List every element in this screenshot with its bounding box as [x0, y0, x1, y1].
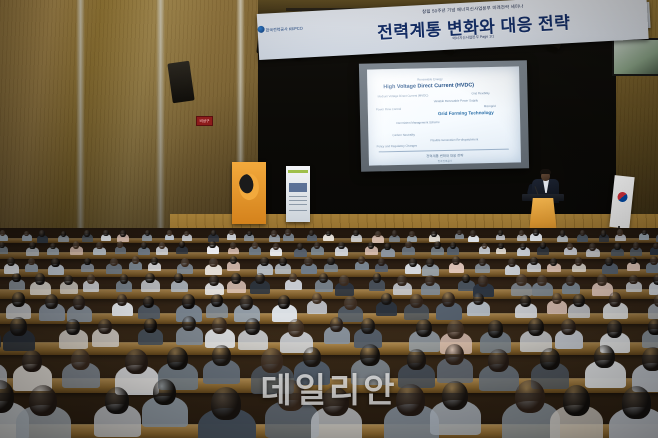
audience-member-head [482, 243, 487, 249]
audience-member-head [303, 347, 321, 368]
audience-member-head [368, 242, 374, 249]
conference-photo: 비상구 "50년의 역사, 50년의 미래" 한국전력공사 KEPCO 창립 5… [0, 0, 658, 438]
audience-member-head [96, 242, 102, 249]
audience-member-head [29, 385, 57, 416]
exit-sign-label: 비상구 [197, 117, 212, 125]
audience-member-head [405, 241, 412, 248]
wood-panel-wall-left [0, 0, 262, 232]
audience-member-head [601, 230, 606, 236]
audience-member-head [182, 294, 195, 309]
audience-member-head [304, 257, 312, 266]
x-banner-line [289, 210, 307, 211]
audience-member-head [110, 258, 118, 267]
audience-member-head [560, 230, 566, 236]
audience-member-head [442, 292, 455, 307]
audience-member-head [515, 380, 545, 414]
audience-member-head [45, 294, 58, 309]
audience-member-head [462, 274, 470, 283]
audience-member-head [7, 257, 15, 266]
screen-glare [367, 66, 521, 165]
audience-member-head [326, 231, 331, 237]
audience-member-head [105, 387, 129, 414]
audience-member-head [247, 231, 252, 237]
audience-member-head [396, 384, 424, 416]
audience-member-head [653, 243, 658, 249]
kepco-logo-icon [237, 172, 262, 202]
audience-member-head [630, 257, 637, 265]
audience-member-head [132, 256, 139, 264]
x-banner-header [288, 170, 308, 173]
audience-member-head [0, 230, 5, 236]
audience-member-head [540, 242, 546, 249]
audience-member-head [10, 317, 26, 335]
audience-member-head [373, 273, 381, 282]
audience-member-head [520, 295, 531, 308]
audience-member-head [211, 387, 241, 420]
audience-member-head [573, 294, 584, 307]
audience-member-head [245, 318, 261, 336]
audience-member-head [473, 293, 484, 306]
audience-member-head [64, 275, 73, 285]
audience-member-head [12, 273, 20, 282]
audience-member-head [87, 274, 95, 283]
audience-member-head [648, 319, 658, 334]
audience-member-head [212, 317, 227, 334]
audience-member-head [151, 257, 158, 265]
audience-member-head [431, 231, 437, 237]
audience-member-head [230, 256, 237, 264]
audience-member-head [125, 349, 147, 374]
audience-member-head [327, 257, 334, 265]
audience-member-head [498, 243, 504, 249]
audience-member-head [260, 257, 269, 267]
audience-member-head [457, 230, 462, 235]
audience-member-head [409, 231, 414, 237]
x-banner-line [289, 196, 307, 197]
audience-member-head [498, 230, 503, 235]
audience-member-head [314, 242, 320, 249]
audience-member-head [552, 293, 562, 305]
audience-member-head [516, 274, 527, 286]
audience-member-head [145, 273, 154, 284]
audience-member-head [261, 348, 283, 373]
audience-member-head [39, 230, 45, 237]
audience-member-body [0, 330, 1, 348]
audience-member-head [642, 230, 647, 236]
audience-member-head [312, 293, 322, 305]
audience-member-head [153, 379, 176, 405]
audience-member-head [447, 320, 464, 339]
event-x-banner [286, 166, 310, 222]
audience-member-head [409, 258, 417, 267]
audience-member-head [361, 318, 375, 334]
audience-member-head [392, 230, 398, 236]
audience-member-head [360, 344, 380, 366]
audience-member-head [167, 347, 188, 370]
audience-member-head [51, 258, 59, 267]
audience-member-head [209, 258, 217, 267]
audience-member-head [22, 350, 42, 372]
audience-member-head [98, 319, 112, 334]
audience-member-head [159, 242, 165, 249]
audience-member-head [73, 295, 86, 309]
audience-member-head [174, 273, 183, 283]
audience-member-head [416, 319, 432, 337]
wall-shading [0, 0, 262, 232]
audience-member-head [575, 257, 582, 265]
audience-member-head [322, 387, 348, 416]
x-banner-line [289, 200, 307, 201]
audience-member-head [289, 273, 297, 282]
audience-member-head [181, 258, 189, 267]
audience-member-head [103, 230, 108, 236]
audience-member-head [642, 347, 658, 372]
audience-member-head [279, 257, 287, 267]
audience-member-head [589, 243, 596, 251]
audience-member-head [278, 295, 291, 309]
audience-member-head [478, 275, 489, 287]
wall-monitor [612, 38, 658, 76]
audience-member-head [231, 273, 241, 284]
audience-member-head [375, 231, 381, 237]
audience-member-head [252, 242, 258, 249]
x-banner-title-block [289, 183, 307, 192]
audience-member-head [425, 275, 435, 286]
audience-member-head [434, 241, 441, 248]
audience-member-head [288, 319, 305, 338]
audience-member-head [358, 256, 365, 264]
audience-member-head [407, 349, 426, 370]
projection-screen: Renewable Energy High Voltage Direct Cur… [367, 66, 521, 165]
audience-member-head [50, 243, 56, 250]
audience-member-head [479, 258, 486, 266]
audience-member-head [35, 273, 46, 285]
audience-member-head [182, 316, 196, 332]
audience-member-head [330, 317, 343, 332]
audience-member-head [397, 275, 407, 286]
audience-member-head [530, 257, 537, 265]
audience-member-head [120, 230, 126, 237]
audience-member-head [528, 318, 544, 336]
audience-member-head [167, 230, 172, 235]
audience-member-head [344, 296, 357, 310]
audience-member-head [629, 275, 637, 284]
audience-member-head [445, 344, 464, 365]
x-banner-line [289, 204, 307, 205]
audience-member-head [561, 319, 576, 335]
audience-member-head [271, 230, 277, 236]
audience-member-head [442, 381, 468, 410]
audience-member-head [179, 241, 185, 248]
audience-member-head [209, 275, 219, 286]
audience-member-head [488, 349, 509, 372]
audience-member-head [594, 345, 615, 369]
audience-member-head [240, 295, 253, 310]
audience-member-head [255, 273, 265, 284]
audience-member-head [277, 380, 305, 411]
taeguk-circle-icon [617, 192, 628, 203]
audience-member-head [533, 229, 539, 236]
audience-member-head [520, 243, 527, 250]
audience-member-head [229, 230, 234, 235]
audience-member-head [145, 230, 150, 236]
audience-member-head [12, 292, 25, 306]
audience-member-head [540, 348, 560, 370]
audience-member-head [450, 242, 456, 249]
audience-member-head [622, 386, 651, 419]
audience-member-head [117, 294, 128, 306]
audience-member-head [609, 292, 622, 306]
audience-member-head [633, 242, 640, 249]
audience-member-head [384, 243, 391, 251]
audience-member-head [66, 319, 80, 335]
audience-member-head [653, 274, 658, 285]
audience-member-head [339, 275, 349, 286]
audience-member-head [143, 296, 154, 309]
audience-member-head [309, 230, 314, 236]
audience-member-head [378, 258, 385, 266]
audience-member-head [488, 320, 504, 338]
audience-member-head [550, 258, 557, 266]
audience-member-head [567, 243, 573, 250]
audience-member-head [120, 274, 128, 283]
speaker-hair [540, 169, 551, 174]
audience-member-head [563, 385, 590, 415]
audience-member-head [285, 229, 291, 235]
audience-member-head [212, 345, 231, 366]
audience-member-head [319, 273, 328, 283]
audience-member-head [410, 294, 423, 308]
projection-screen-frame: Renewable Energy High Voltage Direct Cur… [359, 60, 529, 171]
audience-member-head [61, 231, 67, 237]
audience-member-head [273, 243, 279, 250]
audience-member-head [144, 318, 157, 333]
kepco-logo-icon: 한국전력공사 KEPCO [266, 26, 303, 34]
audience-member-head [617, 229, 623, 235]
audience-member-head [566, 275, 575, 285]
audience-member-head [650, 256, 658, 265]
audience-member-head [470, 230, 476, 236]
exit-sign: 비상구 [196, 116, 213, 126]
audience-member-head [84, 258, 91, 266]
audience-member-head [614, 243, 620, 250]
audience-member-head [73, 241, 80, 248]
audience-member-head [338, 242, 345, 250]
audience-member-head [607, 320, 623, 338]
audience-member-head [230, 242, 236, 249]
audience-member-head [28, 258, 35, 265]
audience-member-head [84, 230, 90, 236]
audience-member-head [209, 241, 215, 248]
audience-member-head [211, 294, 222, 307]
kepco-vertical-banner [232, 162, 266, 224]
audience-seating [0, 228, 658, 438]
audience-member-head [597, 274, 608, 286]
audience-member-head [71, 349, 90, 371]
audience-member-head [381, 293, 392, 305]
